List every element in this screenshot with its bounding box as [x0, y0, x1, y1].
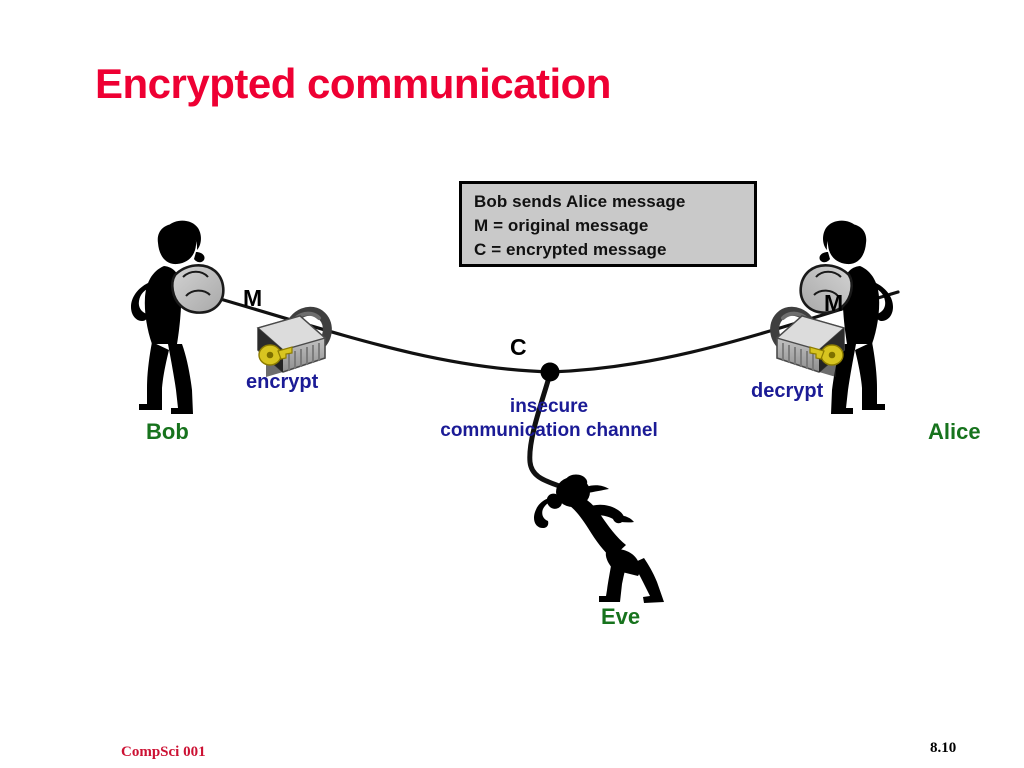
label-channel-line-2: communication channel [421, 419, 677, 443]
bob-figure-icon [131, 221, 223, 414]
label-message-left: M [243, 285, 262, 312]
channel-node-icon [541, 363, 560, 382]
label-encrypt: encrypt [246, 371, 318, 394]
label-alice: Alice [928, 419, 981, 445]
slide-canvas: Encrypted communication [0, 0, 1024, 768]
legend-line-3: C = encrypted message [474, 238, 754, 262]
legend-line-2: M = original message [474, 214, 754, 238]
label-decrypt: decrypt [751, 380, 823, 403]
encrypt-padlock-icon [258, 311, 327, 377]
label-insecure-channel: insecure communication channel [421, 395, 677, 443]
label-ciphertext: C [510, 334, 527, 361]
footer-page-number: 8.10 [930, 740, 956, 757]
eve-figure-icon [534, 475, 664, 604]
label-bob: Bob [146, 419, 189, 445]
legend-line-1: Bob sends Alice message [474, 190, 754, 214]
footer-course-label: CompSci 001 [121, 744, 206, 761]
legend-box: Bob sends Alice message M = original mes… [459, 181, 757, 267]
label-eve: Eve [601, 604, 640, 630]
label-message-right: M [824, 290, 843, 317]
encryption-diagram [0, 0, 1024, 768]
label-channel-line-1: insecure [421, 395, 677, 419]
decrypt-padlock-icon [775, 311, 844, 377]
